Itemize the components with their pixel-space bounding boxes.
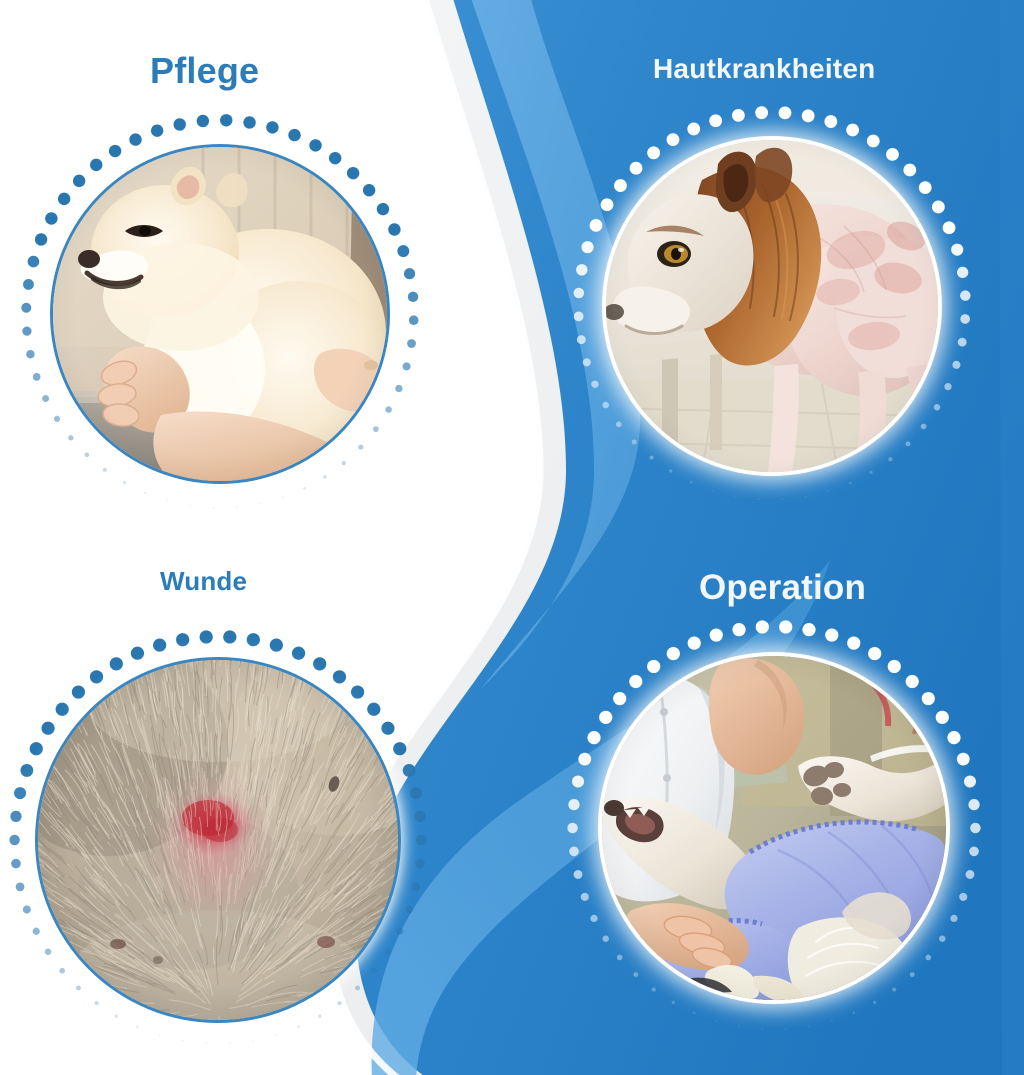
ring-dot — [688, 636, 701, 649]
ring-dot — [367, 703, 380, 716]
panel-label-pflege: Pflege — [150, 53, 259, 89]
ring-dot — [410, 787, 422, 799]
ring-dot — [205, 1042, 207, 1044]
ring-dot — [715, 1020, 717, 1022]
surgery-operation-photo[interactable] — [602, 656, 946, 1000]
ring-dot — [761, 1028, 763, 1030]
ring-dot — [393, 742, 406, 755]
ring-dot — [303, 487, 306, 490]
ring-dot — [347, 167, 359, 179]
ring-dot — [95, 1001, 99, 1005]
ring-dot — [667, 647, 680, 660]
ring-dot — [26, 350, 35, 359]
ring-dot — [922, 692, 935, 705]
ring-dot — [396, 928, 403, 935]
ring-dot — [690, 481, 693, 484]
ring-dot — [151, 124, 163, 136]
ring-dot — [54, 416, 60, 422]
ring-dot — [403, 362, 411, 370]
ring-dot — [30, 742, 43, 755]
ring-dot — [41, 722, 54, 735]
ring-dot — [951, 244, 963, 256]
ring-dot — [785, 1028, 787, 1030]
ring-dot — [136, 1026, 138, 1028]
ring-dot — [363, 184, 375, 196]
ring-dot — [45, 949, 51, 955]
ring-dot — [921, 424, 927, 430]
ring-dot — [868, 647, 881, 660]
ring-dot — [825, 628, 838, 641]
ring-dot — [603, 935, 609, 941]
ring-dot — [223, 630, 236, 643]
ring-dot — [969, 847, 979, 857]
ring-dot — [735, 495, 737, 497]
ring-dot — [59, 968, 65, 974]
ring-dot — [873, 1001, 876, 1004]
ring-dot — [932, 201, 945, 214]
ring-dot — [333, 670, 346, 683]
panel-pflege[interactable] — [18, 112, 422, 516]
ring-dot — [869, 471, 872, 474]
ring-dot — [56, 703, 69, 716]
ring-dot — [20, 764, 33, 777]
ring-dot — [853, 1012, 855, 1014]
ring-dot — [614, 179, 627, 192]
ring-dot — [131, 647, 144, 660]
ring-dot — [632, 439, 637, 444]
ring-dot — [910, 972, 915, 977]
ring-dot — [381, 722, 394, 735]
ring-dot — [576, 264, 587, 275]
ring-dot — [270, 639, 283, 652]
ring-dot — [22, 327, 31, 336]
ring-dot — [888, 457, 892, 461]
ring-dot — [846, 124, 859, 137]
ring-dot — [259, 503, 261, 505]
skin-disease-husky-photo[interactable] — [606, 140, 938, 472]
ring-dot — [110, 657, 123, 670]
ring-dot — [342, 461, 346, 465]
ring-dot — [567, 823, 577, 833]
ring-dot — [397, 245, 409, 257]
ring-dot — [574, 870, 583, 879]
ring-dot — [583, 358, 591, 366]
ring-dot — [568, 799, 579, 810]
ring-dot — [944, 383, 951, 390]
ring-dot — [590, 219, 603, 232]
infographic-stage: Pflege — [0, 0, 1024, 1075]
ring-dot — [936, 711, 949, 724]
panel-operation[interactable] — [564, 618, 984, 1038]
ring-dot — [647, 146, 660, 159]
ring-dot — [109, 145, 121, 157]
ring-dot — [115, 1015, 118, 1018]
panel-label-hautkrankheiten: Hautkrankheiten — [653, 55, 875, 83]
ring-dot — [886, 148, 899, 161]
ring-dot — [407, 339, 416, 348]
ring-dot — [414, 811, 425, 822]
ring-dot — [10, 811, 21, 822]
edge-highlight-right — [1000, 0, 1024, 1075]
ring-dot — [693, 1012, 695, 1014]
ring-dot — [404, 268, 415, 279]
ring-dot — [21, 303, 31, 313]
ring-dot — [23, 279, 34, 290]
ring-dot — [970, 823, 980, 833]
panel-label-wunde: Wunde — [160, 568, 247, 594]
ring-dot — [738, 1025, 740, 1027]
ring-dot — [236, 506, 238, 508]
skin-disease-husky-photo-art — [606, 140, 938, 472]
ring-dot — [337, 1001, 341, 1005]
ring-dot — [756, 620, 769, 633]
ring-dot — [617, 955, 623, 961]
ring-dot — [732, 109, 745, 122]
ring-dot — [824, 115, 837, 128]
ring-dot — [373, 426, 379, 432]
ring-dot — [243, 116, 255, 128]
ring-dot — [220, 114, 232, 126]
ring-dot — [888, 660, 901, 673]
ring-dot — [633, 972, 638, 977]
ring-dot — [11, 859, 21, 869]
ring-dot — [952, 361, 960, 369]
ring-dot — [167, 500, 169, 502]
ring-dot — [903, 164, 916, 177]
ring-dot — [16, 882, 25, 891]
ring-dot — [72, 685, 85, 698]
ring-dot — [229, 1042, 231, 1044]
ring-dot — [58, 193, 70, 205]
ring-dot — [732, 623, 745, 636]
ring-dot — [42, 395, 49, 402]
ring-dot — [297, 1026, 299, 1028]
ring-dot — [275, 1034, 277, 1036]
ring-dot — [45, 212, 57, 224]
ring-dot — [934, 404, 940, 410]
ring-dot — [827, 490, 829, 492]
ring-dot — [351, 685, 364, 698]
ring-dot — [652, 988, 656, 992]
ring-dot — [252, 1039, 254, 1041]
ring-dot — [958, 338, 967, 347]
ring-dot — [323, 475, 326, 478]
ring-dot — [805, 496, 807, 498]
ring-dot — [591, 381, 598, 388]
ring-dot — [103, 468, 107, 472]
ring-dot — [247, 633, 260, 646]
ring-dot — [73, 175, 85, 187]
ring-dot — [358, 445, 363, 450]
ring-dot — [90, 670, 103, 683]
ring-dot — [35, 233, 47, 245]
wound-closeup-photo[interactable] — [38, 660, 398, 1020]
ring-dot — [779, 106, 792, 119]
ring-dot — [847, 636, 860, 649]
ring-dot — [405, 906, 413, 914]
ring-dot — [129, 133, 141, 145]
ring-dot — [409, 315, 419, 325]
ring-dot — [182, 1039, 184, 1041]
ring-dot — [709, 114, 722, 127]
ring-dot — [964, 776, 976, 788]
ring-dot — [574, 288, 585, 299]
ring-dot — [669, 469, 672, 472]
ring-dot — [144, 492, 146, 494]
ring-dot — [288, 129, 300, 141]
ring-dot — [802, 623, 815, 636]
ring-dot — [395, 385, 402, 392]
ring-dot — [599, 711, 612, 724]
ring-dot — [906, 675, 919, 688]
ring-dot — [957, 753, 970, 766]
wound-closeup-photo-art — [38, 660, 398, 1020]
ring-dot — [174, 118, 186, 130]
ring-dot — [282, 496, 284, 498]
ring-dot — [867, 135, 880, 148]
ring-dot — [966, 870, 975, 879]
ring-dot — [14, 787, 26, 799]
ring-dot — [123, 481, 126, 484]
ring-dot — [33, 373, 41, 381]
ring-dot — [153, 639, 166, 652]
ring-dot — [85, 453, 90, 458]
ring-dot — [385, 406, 392, 413]
panel-hautkrankheiten[interactable] — [570, 104, 974, 508]
ring-dot — [416, 835, 426, 845]
ring-dot — [377, 203, 389, 215]
ring-dot — [28, 256, 40, 268]
ring-dot — [968, 799, 979, 810]
ring-dot — [959, 893, 967, 901]
ring-dot — [68, 435, 73, 440]
ring-dot — [33, 928, 40, 935]
ring-dot — [587, 731, 600, 744]
ring-dot — [758, 498, 760, 500]
ring-dot — [647, 660, 660, 673]
ring-dot — [672, 1001, 675, 1004]
ring-dot — [667, 133, 680, 146]
ring-dot — [415, 859, 425, 869]
ring-dot — [613, 692, 626, 705]
ring-dot — [939, 935, 945, 941]
ring-dot — [371, 968, 377, 974]
ring-dot — [388, 223, 400, 235]
ring-dot — [318, 1015, 321, 1018]
ring-dot — [90, 159, 102, 171]
ring-dot — [601, 198, 614, 211]
ring-dot — [802, 109, 815, 122]
ring-dot — [176, 633, 189, 646]
ring-dot — [960, 290, 971, 301]
ring-dot — [159, 1034, 161, 1036]
ring-dot — [710, 628, 723, 641]
ring-dot — [76, 986, 81, 991]
ring-dot — [849, 482, 851, 484]
ring-dot — [292, 647, 305, 660]
ring-dot — [950, 915, 957, 922]
ring-dot — [755, 106, 768, 119]
ring-dot — [808, 1025, 810, 1027]
ring-dot — [385, 949, 391, 955]
ring-dot — [569, 847, 579, 857]
ring-dot — [919, 181, 932, 194]
ring-dot — [712, 490, 714, 492]
ring-dot — [957, 267, 968, 278]
ring-dot — [906, 441, 911, 446]
ring-dot — [629, 675, 642, 688]
ring-dot — [403, 764, 416, 777]
ring-dot — [355, 986, 360, 991]
ring-dot — [9, 835, 19, 845]
ring-dot — [602, 402, 609, 409]
ring-dot — [630, 162, 643, 175]
ring-dot — [650, 456, 654, 460]
ring-dot — [577, 335, 586, 344]
ring-dot — [581, 893, 589, 901]
ring-dot — [412, 882, 421, 891]
ring-dot — [960, 314, 970, 324]
ring-dot — [572, 776, 584, 788]
ring-dot — [197, 115, 209, 127]
ring-dot — [408, 292, 418, 302]
ring-dot — [779, 620, 792, 633]
ring-dot — [590, 915, 597, 922]
ring-dot — [309, 139, 321, 151]
grooming-pomeranian-photo-art — [53, 147, 387, 481]
ring-dot — [213, 507, 215, 509]
ring-dot — [266, 121, 278, 133]
ring-dot — [23, 906, 31, 914]
surgery-operation-photo-art — [602, 656, 946, 1000]
ring-dot — [313, 657, 326, 670]
ring-dot — [831, 1020, 833, 1022]
ring-dot — [616, 421, 622, 427]
ring-dot — [329, 152, 341, 164]
ring-dot — [581, 241, 593, 253]
ring-dot — [578, 753, 591, 766]
ring-dot — [925, 955, 931, 961]
ring-dot — [687, 123, 700, 136]
ring-dot — [943, 221, 956, 234]
ring-dot — [574, 312, 584, 322]
ring-dot — [781, 498, 783, 500]
ring-dot — [190, 505, 192, 507]
panel-wunde[interactable] — [6, 628, 430, 1052]
ring-dot — [947, 731, 960, 744]
ring-dot — [892, 988, 896, 992]
panel-label-operation: Operation — [699, 570, 866, 605]
ring-dot — [200, 630, 213, 643]
grooming-pomeranian-photo[interactable] — [53, 147, 387, 481]
